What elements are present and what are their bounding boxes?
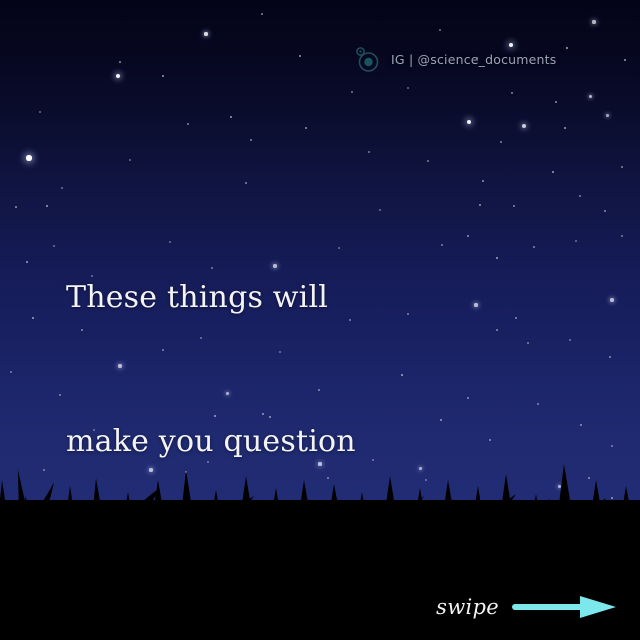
star: [427, 160, 429, 162]
star: [230, 116, 233, 119]
star: [407, 87, 409, 89]
headline-line-1: These things will: [66, 274, 378, 322]
star: [46, 205, 49, 208]
star: [441, 244, 443, 246]
star: [368, 151, 370, 153]
star: [511, 92, 513, 94]
star: [119, 61, 121, 63]
star: [305, 127, 308, 130]
star: [527, 342, 529, 344]
atom-logo-icon: [352, 44, 382, 74]
star: [439, 29, 441, 31]
star: [116, 74, 120, 78]
star: [407, 313, 409, 315]
star: [515, 317, 517, 319]
star: [552, 171, 555, 174]
star: [299, 55, 301, 57]
star: [566, 47, 569, 50]
star: [624, 59, 626, 61]
star: [496, 329, 498, 331]
star: [467, 120, 472, 125]
star: [496, 257, 499, 260]
star: [440, 419, 443, 422]
star: [500, 141, 502, 143]
star: [575, 240, 577, 242]
arrow-right-icon[interactable]: [512, 594, 622, 620]
star: [606, 114, 609, 117]
star: [533, 246, 535, 248]
star: [522, 124, 526, 128]
star: [579, 195, 581, 197]
star: [59, 394, 61, 396]
star: [474, 303, 477, 306]
star: [401, 374, 404, 377]
star: [592, 20, 595, 23]
star: [187, 123, 189, 125]
star: [15, 206, 18, 209]
star: [351, 91, 353, 93]
star: [537, 403, 539, 405]
star: [26, 261, 29, 264]
star: [61, 187, 63, 189]
star: [261, 13, 263, 15]
star: [10, 371, 12, 373]
star: [555, 101, 557, 103]
star: [53, 245, 55, 247]
star: [482, 180, 484, 182]
star: [580, 424, 582, 426]
star: [39, 111, 41, 113]
swipe-label: swipe: [436, 595, 499, 619]
star: [604, 210, 606, 212]
star: [467, 397, 469, 399]
star: [621, 235, 623, 237]
star: [609, 356, 611, 358]
star: [250, 139, 252, 141]
star: [589, 95, 592, 98]
star: [32, 317, 35, 320]
star: [129, 159, 131, 161]
star: [513, 205, 515, 207]
star: [569, 339, 571, 341]
instagram-post-slide: IG | @science_documents These things wil…: [0, 0, 640, 640]
account-watermark: IG | @science_documents: [352, 44, 557, 74]
star: [379, 209, 381, 211]
star: [204, 32, 207, 35]
star: [564, 127, 567, 130]
star: [610, 298, 613, 301]
account-handle-label: IG | @science_documents: [391, 52, 557, 67]
swipe-cta[interactable]: swipe: [436, 594, 622, 620]
star: [479, 204, 482, 207]
star: [26, 155, 31, 160]
star: [621, 166, 623, 168]
star: [162, 75, 164, 77]
star: [467, 235, 470, 238]
